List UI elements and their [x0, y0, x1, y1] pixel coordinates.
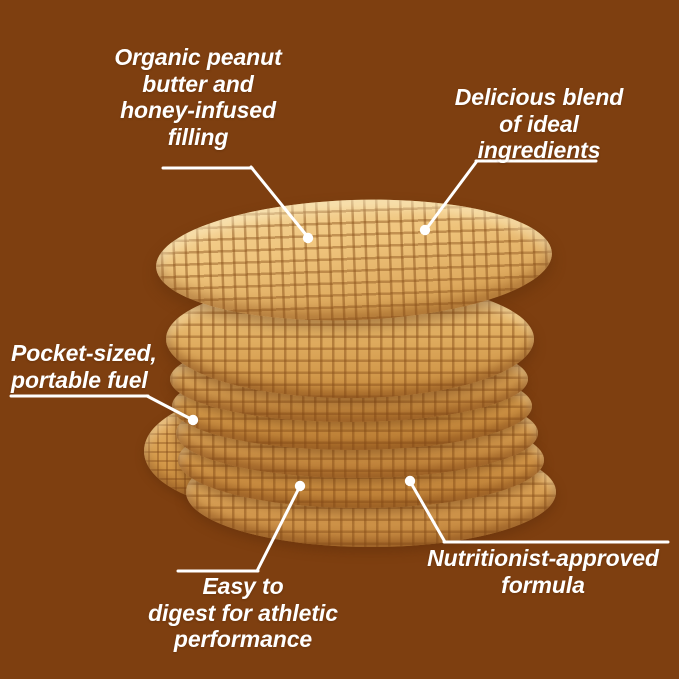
- infographic-canvas: Organic peanut butter and honey-infused …: [0, 0, 679, 679]
- callout-delicious-blend: Delicious blend of ideal ingredients: [436, 84, 642, 164]
- callout-easy-digest: Easy to digest for athletic performance: [118, 573, 368, 653]
- callout-nutritionist-approved: Nutritionist-approved formula: [410, 545, 676, 598]
- callout-organic-filling: Organic peanut butter and honey-infused …: [92, 44, 304, 151]
- callout-pocket-sized: Pocket-sized, portable fuel: [11, 340, 221, 393]
